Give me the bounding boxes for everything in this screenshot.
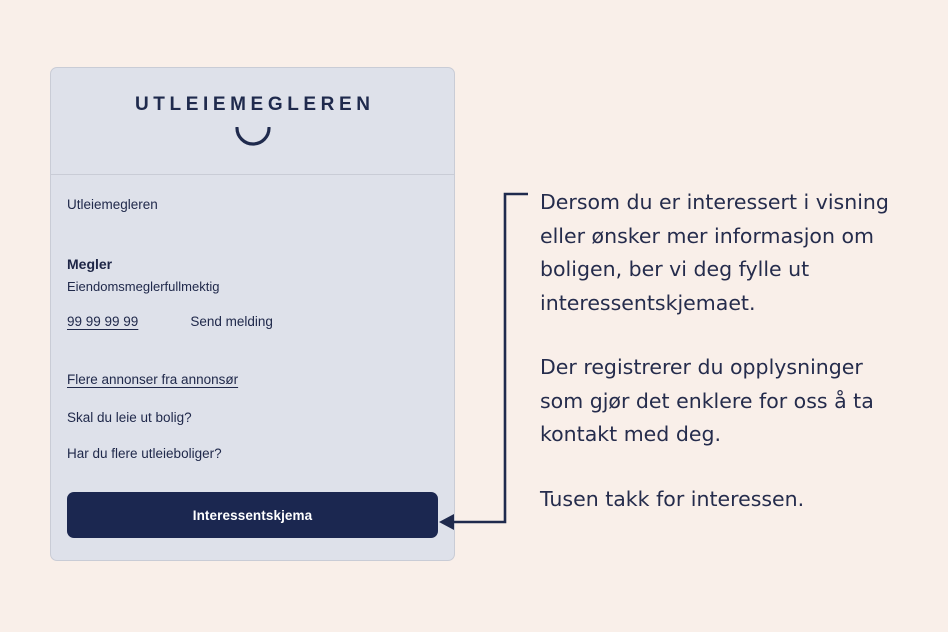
rent-out-property-link[interactable]: Skal du leie ut bolig? xyxy=(67,410,438,425)
annotation-paragraph-3: Tusen takk for interessen. xyxy=(540,483,912,517)
agent-name: Megler xyxy=(67,255,438,273)
card-header: UTLEIEMEGLEREN xyxy=(51,68,454,175)
agent-block: Megler Eiendomsmeglerfullmektig 99 99 99… xyxy=(67,255,438,329)
interest-form-button[interactable]: Interessentskjema xyxy=(67,492,438,538)
send-message-link[interactable]: Send melding xyxy=(190,314,273,329)
more-ads-from-advertiser-link[interactable]: Flere annonser fra annonsør xyxy=(67,372,238,387)
annotation-text: Dersom du er interessert i visning eller… xyxy=(540,186,912,516)
company-name: Utleiemegleren xyxy=(67,197,438,213)
phone-link[interactable]: 99 99 99 99 xyxy=(67,314,138,329)
smile-curve-icon xyxy=(234,127,272,146)
brand-wordmark: UTLEIEMEGLEREN xyxy=(130,95,374,114)
more-rental-properties-link[interactable]: Har du flere utleieboliger? xyxy=(67,446,438,461)
broker-contact-card: UTLEIEMEGLEREN Utleiemegleren Megler Eie… xyxy=(50,67,455,561)
card-body: Utleiemegleren Megler Eiendomsmeglerfull… xyxy=(51,175,454,461)
annotation-paragraph-1: Dersom du er interessert i visning eller… xyxy=(540,186,912,320)
contact-row: 99 99 99 99 Send melding xyxy=(67,314,438,329)
annotation-paragraph-2: Der registrerer du opplysninger som gjør… xyxy=(540,351,912,452)
agent-title: Eiendomsmeglerfullmektig xyxy=(67,279,438,296)
